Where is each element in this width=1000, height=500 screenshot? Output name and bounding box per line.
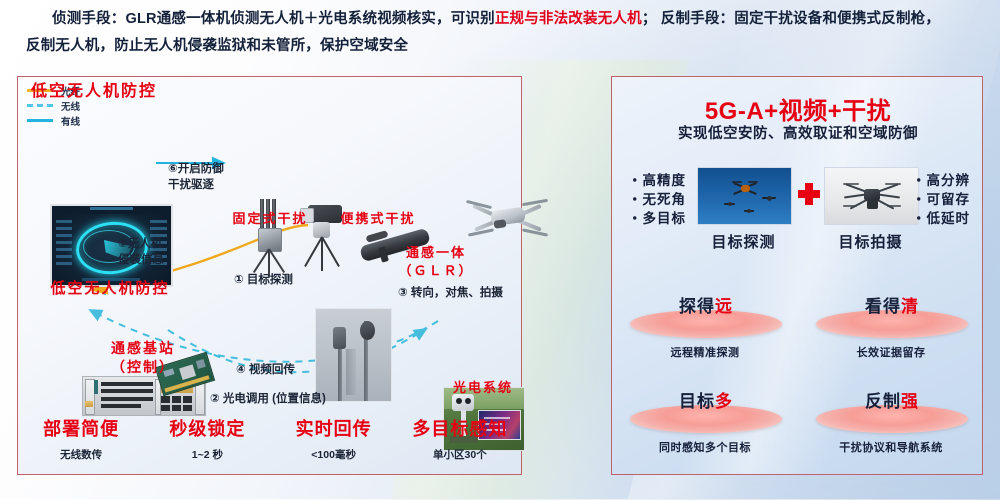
header-line-1: 侦测手段：GLR通感一体机侦测无人机＋光电系统视频核实，可识别正规与非法改装无人… (26, 6, 974, 33)
label-glr-line2: （ＧＬＲ） (376, 260, 496, 279)
shoot-bullets: ・高分辨 ・可留存 ・低延时 (912, 171, 970, 228)
capability-prefix: 看得 (865, 297, 901, 316)
stat-item: 实时回传 <100毫秒 (271, 415, 397, 462)
header-line1-part-b: ； 反制手段：固定干扰设备和便携式反制枪， (642, 11, 940, 27)
bullet-item: ・多目标 (628, 209, 686, 228)
detect-shoot-section: ・高精度 ・无死角 ・多目标 (612, 159, 984, 277)
bullet-item: ・高分辨 (912, 171, 970, 190)
capability-prefix: 反制 (865, 392, 901, 411)
capability-subtitle: 干扰协议和导航系统 (798, 439, 984, 455)
capability-highlight: 清 (901, 297, 919, 316)
capability-subtitle: 同时感知多个目标 (612, 439, 798, 455)
capability-cell: 目标多 同时感知多个目标 (612, 377, 798, 469)
left-panel: 光纤 无线 有线 低空无人机防控 (17, 76, 522, 475)
capability-prefix: 目标 (679, 392, 715, 411)
monitor-title-strip (90, 207, 133, 210)
header-text-block: 侦测手段：GLR通感一体机侦测无人机＋光电系统视频核实，可识别正规与非法改装无人… (0, 6, 1000, 60)
mini-drone-hex (843, 179, 901, 213)
label-base-station-line2: （控制） (82, 357, 204, 377)
right-panel-subtitle: 实现低空安防、高效取证和空域防御 (612, 122, 984, 143)
label-low-altitude-defense: 低空无人机防控 (18, 77, 170, 101)
capability-grid: 探得远 远程精准探测 看得清 长效证据留存 目标多 同时感知多个目标 反制强 干… (612, 282, 984, 467)
bullet-item: ・可留存 (912, 190, 970, 209)
flow-step3: ③ 转向，对焦、拍摄 (398, 284, 503, 300)
header-line1-highlight: 正规与非法改装无人机 (495, 11, 642, 27)
legend-item-wired: 有线 (27, 113, 80, 128)
stat-title: 实时回传 (271, 415, 397, 441)
stat-subtitle: <100毫秒 (271, 447, 397, 462)
stat-title: 秒级锁定 (144, 415, 270, 441)
flow-step6-line1: ⑥开启防御 (168, 160, 224, 176)
detect-bullets: ・高精度 ・无死角 ・多目标 (628, 171, 686, 228)
flow-step4: ④ 视频回传 (236, 361, 295, 377)
right-panel-title: 5G-A+视频+干扰 (612, 91, 984, 126)
capability-title: 反制强 (816, 387, 968, 412)
capability-cell: 探得远 远程精准探测 (612, 282, 798, 374)
capability-cell: 看得清 长效证据留存 (798, 282, 984, 374)
mini-drone-small-1 (762, 194, 776, 203)
mini-drone-large (732, 180, 758, 196)
bullet-item: ・低延时 (912, 209, 970, 228)
stat-item: 部署简便 无线数传 (18, 415, 144, 462)
caption-target-shooting: 目标拍摄 (809, 231, 932, 252)
flow-step5-line1: ⑤无人机 (118, 235, 162, 251)
caption-target-detection: 目标探测 (682, 231, 805, 252)
capability-prefix: 探得 (679, 297, 715, 316)
label-portable-jammer: 便携式干扰 (318, 208, 438, 227)
target-shooting-photo (824, 167, 919, 225)
capability-highlight: 强 (901, 392, 919, 411)
flow-step6-line2: 干扰驱逐 (168, 176, 214, 192)
capability-title: 探得远 (630, 292, 782, 317)
wireless-line-swatch (27, 104, 53, 107)
header-line-2: 反制无人机，防止无人机侵袭监狱和未管所，保护空域安全 (26, 33, 974, 60)
capability-subtitle: 长效证据留存 (798, 344, 984, 360)
flow-step2: ② 光电调用 (位置信息) (210, 390, 326, 406)
flow-step5-line2: 侵袭信息 (118, 251, 164, 267)
label-fixed-jammer: 固定式干扰 (210, 208, 330, 227)
capability-highlight: 远 (715, 297, 733, 316)
bullet-item: ・高精度 (628, 171, 686, 190)
label-base-station-line1: 通感基站 (82, 338, 204, 358)
stat-item: 多目标感知 单小区30个 (397, 415, 523, 462)
flow-step1: ① 目标探测 (234, 271, 293, 287)
drone-image (464, 189, 554, 247)
bullet-item: ・无死角 (628, 190, 686, 209)
capability-highlight: 多 (715, 392, 733, 411)
label-optical-system: 光电系统 (428, 377, 538, 396)
capability-subtitle: 远程精准探测 (612, 344, 798, 360)
stat-subtitle: 1~2 秒 (144, 447, 270, 462)
header-line1-part-a: 侦测手段：GLR通感一体机侦测无人机＋光电系统视频核实，可识别 (52, 11, 495, 27)
capability-cell: 反制强 干扰协议和导航系统 (798, 377, 984, 469)
target-detection-photo (697, 167, 792, 225)
left-stats-row: 部署简便 无线数传 秒级锁定 1~2 秒 实时回传 <100毫秒 多目标感知 单… (18, 415, 523, 462)
stat-item: 秒级锁定 1~2 秒 (144, 415, 270, 462)
optical-head (452, 394, 474, 411)
glr-tower-image (315, 308, 392, 402)
label-monitor-caption: 低空无人机防控 (30, 277, 190, 298)
stat-title: 多目标感知 (397, 415, 523, 441)
plus-icon (798, 183, 820, 205)
mini-drone-small-2 (724, 201, 735, 208)
capability-title: 看得清 (816, 292, 968, 317)
stat-title: 部署简便 (18, 415, 144, 441)
legend-label-wired: 有线 (61, 114, 80, 128)
capability-title: 目标多 (630, 387, 782, 412)
stat-subtitle: 无线数传 (18, 447, 144, 462)
right-panel: 5G-A+视频+干扰 实现低空安防、高效取证和空域防御 ・高精度 ・无死角 ・多… (611, 76, 983, 475)
mini-drone-small-3 (744, 208, 754, 214)
stat-subtitle: 单小区30个 (397, 447, 523, 462)
drone-camera (494, 219, 507, 229)
label-glr-line1: 通感一体 (376, 242, 496, 261)
wired-line-swatch (27, 119, 53, 122)
